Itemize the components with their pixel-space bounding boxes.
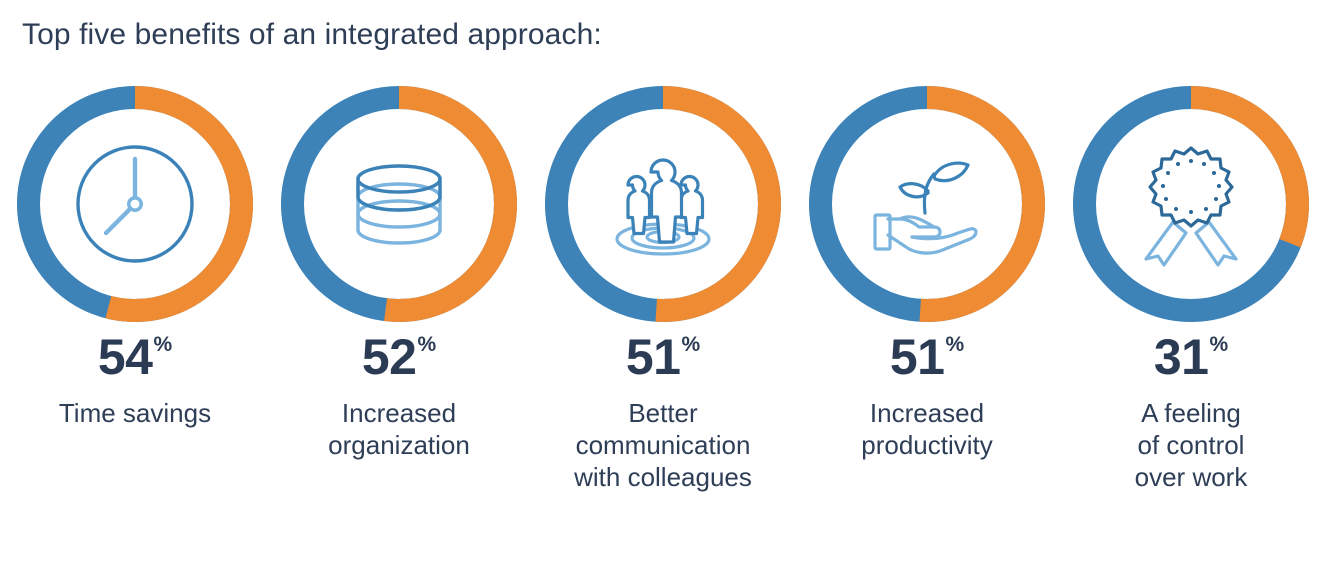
- donut-chart-5: [1071, 84, 1311, 324]
- stat-label-line: with colleagues: [538, 462, 788, 494]
- database-icon: [334, 139, 464, 269]
- stat-value-3: 51 %: [626, 332, 700, 382]
- donut-chart-3: [543, 84, 783, 324]
- stat-value-1: 54 %: [98, 332, 172, 382]
- stat-label-line: Increased: [274, 398, 524, 430]
- stat-label-line: organization: [274, 430, 524, 462]
- stat-label-5: A feeling of control over work: [1066, 398, 1316, 494]
- stat-label-3: Better communication with colleagues: [538, 398, 788, 494]
- stat-label-line: A feeling: [1066, 398, 1316, 430]
- stat-label-4: Increased productivity: [802, 398, 1052, 462]
- stat-card-feeling-of-control: 31 % A feeling of control over work: [1059, 84, 1323, 494]
- people-group-icon: [598, 139, 728, 269]
- stat-number-2: 52: [362, 332, 417, 382]
- icon-layer-4: [807, 84, 1047, 324]
- stat-percent-symbol-3: %: [681, 334, 700, 355]
- stat-label-line: over work: [1066, 462, 1316, 494]
- icon-layer-1: [15, 84, 255, 324]
- stats-row: 54 % Time savings: [0, 84, 1336, 494]
- stat-label-line: communication: [538, 430, 788, 462]
- stat-label-line: Increased: [802, 398, 1052, 430]
- stat-label-line: Time savings: [10, 398, 260, 430]
- icon-layer-5: [1071, 84, 1311, 324]
- icon-layer-2: [279, 84, 519, 324]
- stat-value-4: 51 %: [890, 332, 964, 382]
- stat-percent-symbol-1: %: [153, 334, 172, 355]
- stat-number-3: 51: [626, 332, 681, 382]
- stat-label-line: productivity: [802, 430, 1052, 462]
- stat-value-2: 52 %: [362, 332, 436, 382]
- stat-label-1: Time savings: [10, 398, 260, 430]
- donut-chart-4: [807, 84, 1047, 324]
- stat-card-increased-productivity: 51 % Increased productivity: [795, 84, 1059, 462]
- stat-percent-symbol-4: %: [945, 334, 964, 355]
- infographic-page: Top five benefits of an integrated appro…: [0, 0, 1336, 566]
- stat-label-line: of control: [1066, 430, 1316, 462]
- stat-card-time-savings: 54 % Time savings: [3, 84, 267, 430]
- donut-chart-2: [279, 84, 519, 324]
- stat-number-1: 54: [98, 332, 153, 382]
- stat-card-increased-organization: 52 % Increased organization: [267, 84, 531, 462]
- stat-label-line: Better: [538, 398, 788, 430]
- stat-number-5: 31: [1154, 332, 1209, 382]
- stat-card-better-communication: 51 % Better communication with colleague…: [531, 84, 795, 494]
- donut-chart-1: [15, 84, 255, 324]
- icon-layer-3: [543, 84, 783, 324]
- stat-number-4: 51: [890, 332, 945, 382]
- award-ribbon-icon: [1126, 139, 1256, 269]
- clock-icon: [70, 139, 200, 269]
- stat-value-5: 31 %: [1154, 332, 1228, 382]
- stat-percent-symbol-2: %: [417, 334, 436, 355]
- page-title: Top five benefits of an integrated appro…: [22, 18, 602, 52]
- stat-percent-symbol-5: %: [1209, 334, 1228, 355]
- hand-sprout-icon: [862, 139, 992, 269]
- stat-label-2: Increased organization: [274, 398, 524, 462]
